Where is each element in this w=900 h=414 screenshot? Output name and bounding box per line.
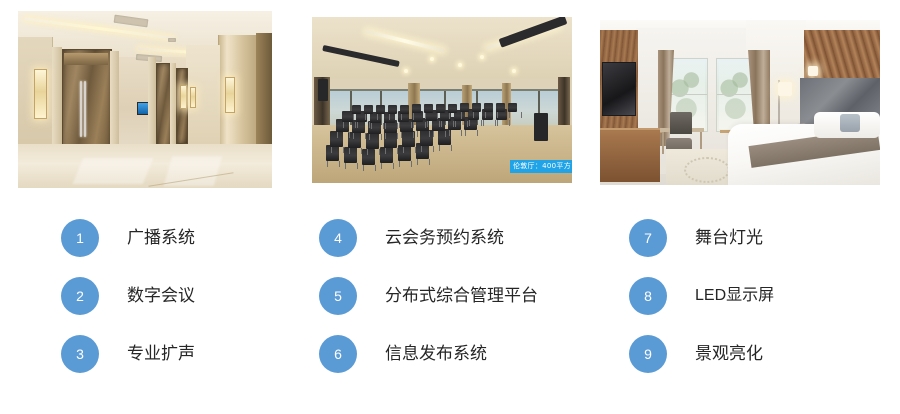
window-bar	[667, 94, 707, 95]
list-item-number-badge: 5	[319, 277, 357, 315]
lobby-wall-pier	[52, 47, 62, 159]
list-item-label: 分布式综合管理平台	[385, 286, 538, 306]
hall-chair	[412, 104, 421, 113]
room-lamp-shade	[778, 82, 792, 96]
list-item-label: 信息发布系统	[385, 344, 487, 364]
list-item-number-badge: 7	[629, 219, 667, 257]
room-desk-leg	[662, 132, 664, 154]
list-item-number-badge: 4	[319, 219, 357, 257]
room-accent-pillow	[840, 114, 860, 132]
hall-chair	[388, 105, 397, 114]
hall-downlight	[512, 69, 516, 73]
hall-chair	[364, 105, 373, 114]
lobby-scene	[18, 11, 272, 188]
room-credenza	[600, 130, 660, 182]
window-foliage	[719, 61, 753, 129]
hall-downlight	[430, 57, 434, 61]
photo-guest-room	[600, 20, 880, 185]
floor-reflection	[73, 158, 154, 184]
elevator-handle	[80, 81, 82, 137]
hall-chair	[376, 105, 385, 114]
feature-list: 1 广播系统 2 数字会议 3 专业扩声 4 云会务预约系统 5 分布式综合管理…	[0, 206, 900, 414]
hall-scene: 伦敦厅：400平方	[312, 17, 572, 183]
feature-column-2: 4 云会务预约系统 5 分布式综合管理平台 6 信息发布系统	[258, 206, 558, 414]
list-item-label: 景观亮化	[695, 344, 763, 364]
list-item-label: 云会务预约系统	[385, 228, 504, 248]
hall-chair	[424, 104, 433, 113]
list-item-label: 广播系统	[127, 228, 195, 248]
hall-chair	[472, 103, 481, 112]
room-wall-sconce	[808, 66, 818, 76]
lobby-wall-pier	[110, 51, 119, 155]
wall-sconce	[34, 69, 47, 119]
lobby-wall-pier	[148, 57, 156, 151]
feature-column-1: 1 广播系统 2 数字会议 3 专业扩声	[0, 206, 300, 414]
photo-hotel-elevator-lobby	[18, 11, 272, 188]
list-item-label: 舞台灯光	[695, 228, 763, 248]
feature-column-3: 7 舞台灯光 8 LED显示屏 9 景观亮化	[568, 206, 868, 414]
list-item-number-badge: 1	[61, 219, 99, 257]
list-item-label: 数字会议	[127, 286, 195, 306]
list-item[interactable]: 3 专业扩声	[61, 335, 195, 373]
list-item-number-badge: 2	[61, 277, 99, 315]
hall-chair	[448, 104, 457, 113]
hall-chair	[508, 103, 517, 112]
hall-chair	[496, 103, 505, 112]
wall-sconce	[190, 87, 196, 108]
list-item-label: 专业扩声	[127, 344, 195, 364]
hall-chair	[352, 105, 361, 114]
list-item[interactable]: 4 云会务预约系统	[319, 219, 504, 257]
list-item[interactable]: 2 数字会议	[61, 277, 195, 315]
list-item-number-badge: 6	[319, 335, 357, 373]
elevator-header-panel	[64, 53, 108, 65]
list-item-label: LED显示屏	[695, 286, 774, 306]
list-item[interactable]: 1 广播系统	[61, 219, 195, 257]
list-item[interactable]: 7 舞台灯光	[629, 219, 763, 257]
hall-caption-badge: 伦敦厅：400平方	[510, 160, 572, 173]
lobby-air-vent	[168, 38, 176, 42]
photo-conference-hall: 伦敦厅：400平方	[312, 17, 572, 183]
wall-sconce	[180, 85, 187, 109]
hall-downlight	[404, 69, 408, 73]
hall-curtain	[558, 77, 570, 129]
list-item[interactable]: 6 信息发布系统	[319, 335, 487, 373]
list-item[interactable]: 8 LED显示屏	[629, 277, 774, 315]
list-item-number-badge: 8	[629, 277, 667, 315]
hall-chair	[460, 103, 469, 112]
wall-sconce	[225, 77, 235, 113]
hall-chair	[484, 103, 493, 112]
window-bar	[717, 94, 755, 95]
room-television	[602, 62, 636, 116]
room-scene	[600, 20, 880, 185]
list-item[interactable]: 9 景观亮化	[629, 335, 763, 373]
list-item[interactable]: 5 分布式综合管理平台	[319, 277, 538, 315]
elevator-handle	[84, 81, 86, 137]
hall-chair	[400, 105, 409, 114]
hall-speaker	[534, 113, 548, 141]
hall-downlight	[458, 63, 462, 67]
room-desk-chair	[670, 112, 692, 134]
hall-chair	[436, 104, 445, 113]
room-rug-pattern	[684, 157, 730, 183]
list-item-number-badge: 9	[629, 335, 667, 373]
list-item-number-badge: 3	[61, 335, 99, 373]
hall-downlight	[480, 55, 484, 59]
hall-speaker	[318, 79, 328, 101]
